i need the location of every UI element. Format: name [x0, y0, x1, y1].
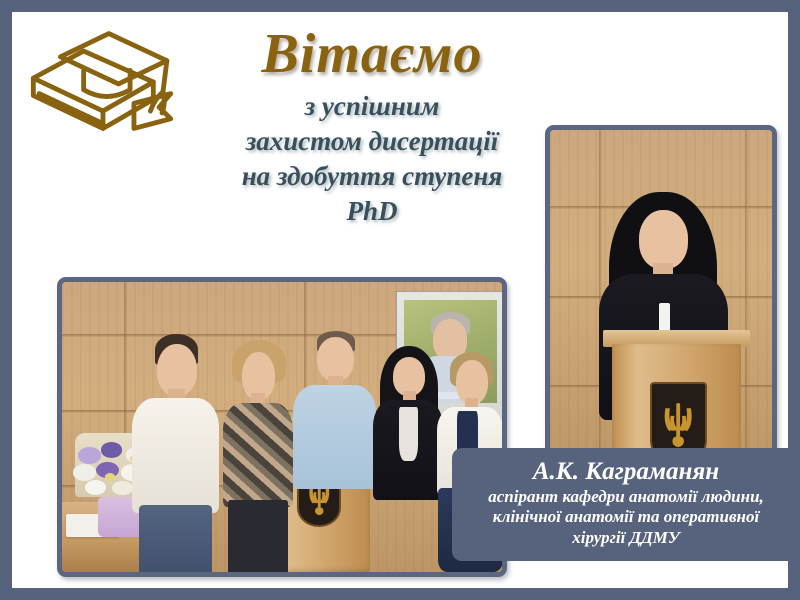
page-title: Вітаємо — [162, 26, 582, 83]
subtitle-line-2: захистом дисертації — [162, 124, 582, 159]
graduation-cap-on-book-icon — [24, 22, 182, 142]
speaker-photo-scene — [550, 130, 772, 475]
subtitle-line-1: з успішним — [162, 89, 582, 124]
speaker-role-line-2: клінічної анатомії та оперативної — [466, 507, 786, 528]
speaker-name: А.К. Каграманян — [466, 458, 786, 486]
speaker-role-line-3: хірургії ДДМУ — [466, 528, 786, 549]
congratulation-poster: Вітаємо з успішним захистом дисертації н… — [0, 0, 800, 600]
microphone — [659, 303, 670, 334]
subtitle: з успішним захистом дисертації на здобут… — [162, 89, 582, 229]
speaker-caption: А.К. Каграманян аспірант кафедри анатомі… — [452, 448, 800, 561]
subtitle-line-4: PhD — [162, 194, 582, 229]
speaker-role-line-1: аспірант кафедри анатомії людини, — [466, 487, 786, 508]
speaker-role: аспірант кафедри анатомії людини, клініч… — [466, 487, 786, 549]
group-photo — [57, 277, 507, 577]
title-block: Вітаємо з успішним захистом дисертації н… — [162, 26, 582, 229]
subtitle-line-3: на здобуття ступеня — [162, 159, 582, 194]
speaker-photo — [545, 125, 777, 480]
group-photo-scene — [62, 282, 502, 572]
